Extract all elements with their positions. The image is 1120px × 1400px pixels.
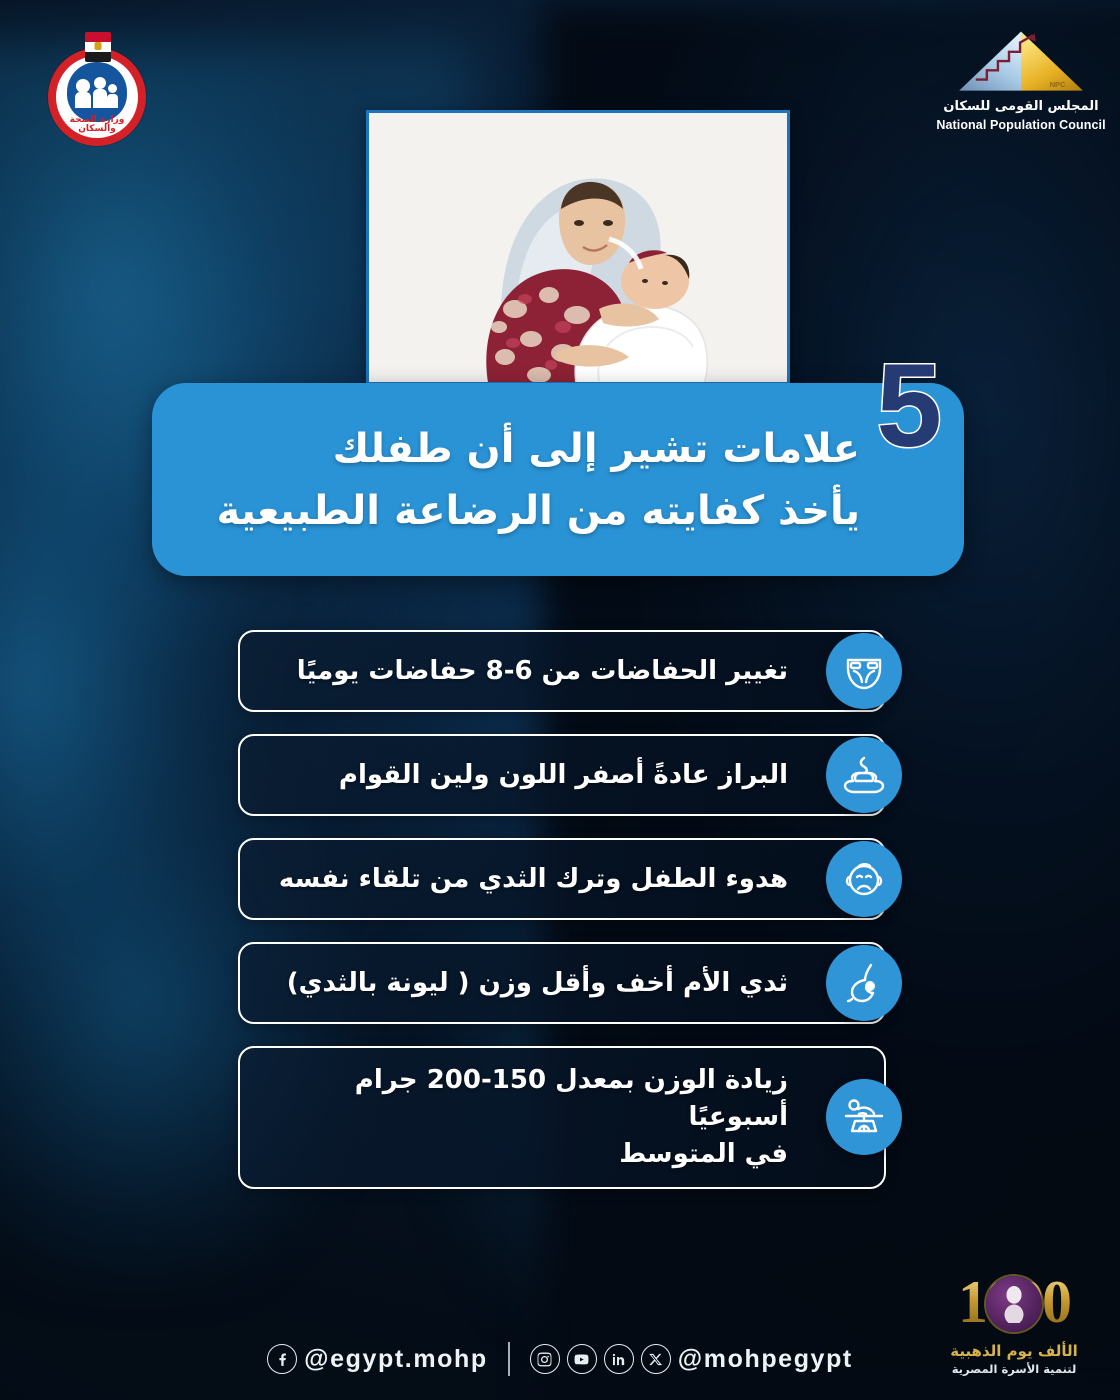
baby-face-icon bbox=[826, 841, 902, 917]
mohp-blue-core bbox=[67, 62, 127, 122]
sign-card-3: هدوء الطفل وترك الثدي من تلقاء نفسه bbox=[238, 838, 886, 920]
mohp-white-disc: وزارة الصحة والسكان bbox=[56, 56, 138, 138]
list-item: البراز عادةً أصفر اللون ولين القوام bbox=[238, 734, 886, 816]
sign-card-2: البراز عادةً أصفر اللون ولين القوام bbox=[238, 734, 886, 816]
mother-baby-illustration bbox=[366, 113, 787, 385]
title-line-2: يأخذ كفايته من الرضاعة الطبيعية bbox=[192, 488, 860, 535]
list-item: هدوء الطفل وترك الثدي من تلقاء نفسه bbox=[238, 838, 886, 920]
other-socials-group[interactable]: @mohpegypt bbox=[530, 1344, 853, 1374]
sign-text-5-line-2: في المتوسط bbox=[619, 1139, 788, 1169]
youtube-icon[interactable] bbox=[567, 1344, 597, 1374]
list-item: تغيير الحفاضات من 6-8 حفاضات يوميًا bbox=[238, 630, 886, 712]
facebook-icon[interactable] bbox=[267, 1344, 297, 1374]
egypt-flag-icon bbox=[85, 32, 111, 62]
sign-text-4: ثدي الأم أخف وأقل وزن ( ليونة بالثدي) bbox=[266, 965, 788, 1002]
list-item: زيادة الوزن بمعدل 150-200 جرام أسبوعيًا … bbox=[238, 1046, 886, 1189]
npc-label-arabic: المجلس القومى للسكان bbox=[936, 99, 1106, 114]
stool-icon bbox=[826, 737, 902, 813]
social-divider bbox=[508, 1342, 510, 1376]
diaper-icon bbox=[826, 633, 902, 709]
mohp-red-ring: وزارة الصحة والسكان bbox=[48, 48, 146, 146]
breast-icon bbox=[826, 945, 902, 1021]
sign-text-2: البراز عادةً أصفر اللون ولين القوام bbox=[266, 757, 788, 794]
linkedin-icon[interactable] bbox=[604, 1344, 634, 1374]
sign-card-5: زيادة الوزن بمعدل 150-200 جرام أسبوعيًا … bbox=[238, 1046, 886, 1189]
ministry-of-health-logo: وزارة الصحة والسكان Ministry of Health &… bbox=[40, 30, 156, 150]
mother-child-silhouette-icon bbox=[997, 1285, 1031, 1323]
svg-text:NPC: NPC bbox=[1050, 80, 1066, 89]
sign-text-1: تغيير الحفاضات من 6-8 حفاضات يوميًا bbox=[266, 653, 788, 690]
instagram-icon[interactable] bbox=[530, 1344, 560, 1374]
sign-text-5-line-1: زيادة الوزن بمعدل 150-200 جرام أسبوعيًا bbox=[355, 1065, 788, 1132]
npc-label-english: National Population Council bbox=[936, 118, 1106, 132]
national-population-council-logo: NPC المجلس القومى للسكان National Popula… bbox=[936, 26, 1106, 138]
list-item: ثدي الأم أخف وأقل وزن ( ليونة بالثدي) bbox=[238, 942, 886, 1024]
pyramid-icon: NPC bbox=[936, 26, 1106, 98]
thousand-label-main: الألف يوم الذهبية bbox=[926, 1342, 1102, 1360]
thousand-golden-days-logo: 1000 الألف يوم الذهبية لتنمية الأسرة الم… bbox=[926, 1274, 1102, 1378]
x-icon[interactable] bbox=[641, 1344, 671, 1374]
sign-card-1: تغيير الحفاضات من 6-8 حفاضات يوميًا bbox=[238, 630, 886, 712]
title-text-block: علامات تشير إلى أن طفلك يأخذ كفايته من ا… bbox=[152, 383, 964, 576]
other-handle[interactable]: @mohpegypt bbox=[678, 1345, 853, 1374]
baby-scale-icon bbox=[826, 1079, 902, 1155]
sign-card-4: ثدي الأم أخف وأقل وزن ( ليونة بالثدي) bbox=[238, 942, 886, 1024]
facebook-group[interactable]: @egypt.mohp bbox=[267, 1344, 488, 1374]
title-banner: 5 علامات تشير إلى أن طفلك يأخذ كفايته من… bbox=[152, 383, 964, 576]
infographic-poster: وزارة الصحة والسكان Ministry of Health &… bbox=[0, 0, 1120, 1400]
signs-list: تغيير الحفاضات من 6-8 حفاضات يوميًا البر… bbox=[238, 630, 886, 1211]
family-figures-icon bbox=[74, 75, 120, 109]
sign-text-3: هدوء الطفل وترك الثدي من تلقاء نفسه bbox=[266, 861, 788, 898]
mohp-label-arabic: وزارة الصحة والسكان bbox=[56, 116, 138, 134]
mother-child-circle bbox=[986, 1276, 1042, 1332]
title-line-1: علامات تشير إلى أن طفلك bbox=[192, 426, 860, 473]
thousand-label-sub: لتنمية الأسرة المصرية bbox=[926, 1362, 1102, 1376]
mother-and-baby-photo bbox=[366, 110, 790, 385]
facebook-handle[interactable]: @egypt.mohp bbox=[304, 1345, 488, 1374]
sign-text-5: زيادة الوزن بمعدل 150-200 جرام أسبوعيًا … bbox=[266, 1062, 788, 1173]
